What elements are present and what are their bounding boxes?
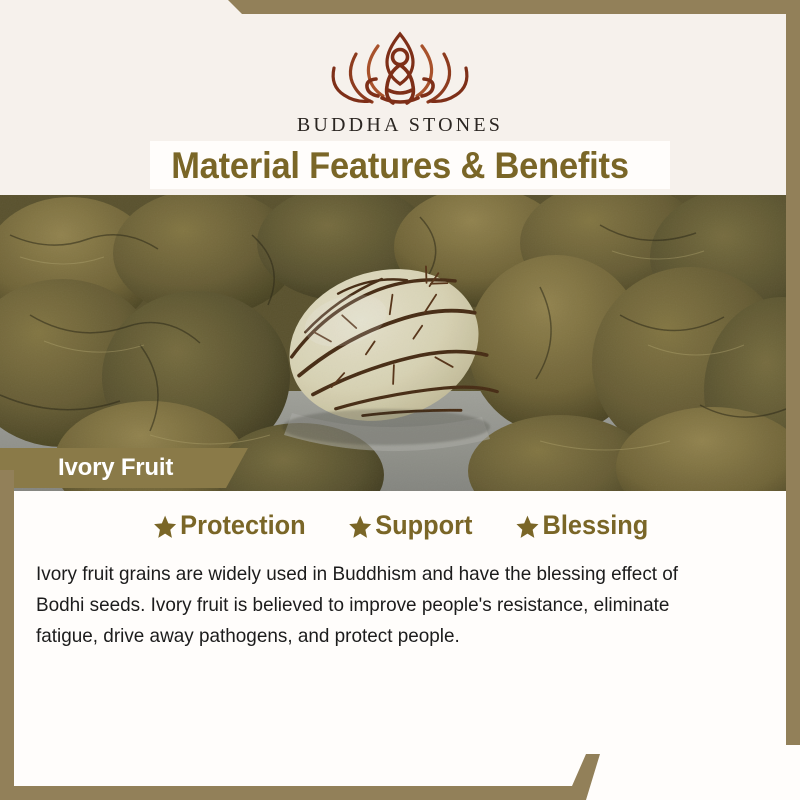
photo-illustration bbox=[0, 195, 800, 491]
title-banner: Material Features & Benefits bbox=[0, 141, 800, 195]
description-text: Ivory fruit grains are widely used in Bu… bbox=[36, 559, 731, 652]
poster-root: BUDDHA STONES Material Features & Benefi… bbox=[0, 0, 800, 800]
header: BUDDHA STONES bbox=[0, 0, 800, 146]
material-label-banner: Ivory Fruit bbox=[0, 448, 248, 488]
star-icon bbox=[153, 514, 177, 540]
brand-name: BUDDHA STONES bbox=[297, 114, 503, 137]
feature-list: Protection Support Blessing bbox=[0, 510, 800, 541]
content-panel: Protection Support Blessing Ivory fruit … bbox=[0, 491, 800, 800]
feature-item-protection: Protection bbox=[153, 510, 306, 541]
material-label: Ivory Fruit bbox=[58, 454, 173, 482]
lotus-meditation-figure-icon bbox=[316, 24, 484, 110]
ivory-fruit-photo bbox=[0, 195, 800, 491]
feature-label: Support bbox=[375, 510, 472, 541]
brand-logo: BUDDHA STONES bbox=[0, 24, 800, 137]
feature-item-blessing: Blessing bbox=[515, 510, 648, 541]
feature-label: Blessing bbox=[542, 510, 648, 541]
feature-label: Protection bbox=[180, 510, 306, 541]
star-icon bbox=[515, 514, 539, 540]
feature-item-support: Support bbox=[348, 510, 473, 541]
page-title: Material Features & Benefits bbox=[28, 141, 772, 191]
star-icon bbox=[348, 514, 372, 540]
